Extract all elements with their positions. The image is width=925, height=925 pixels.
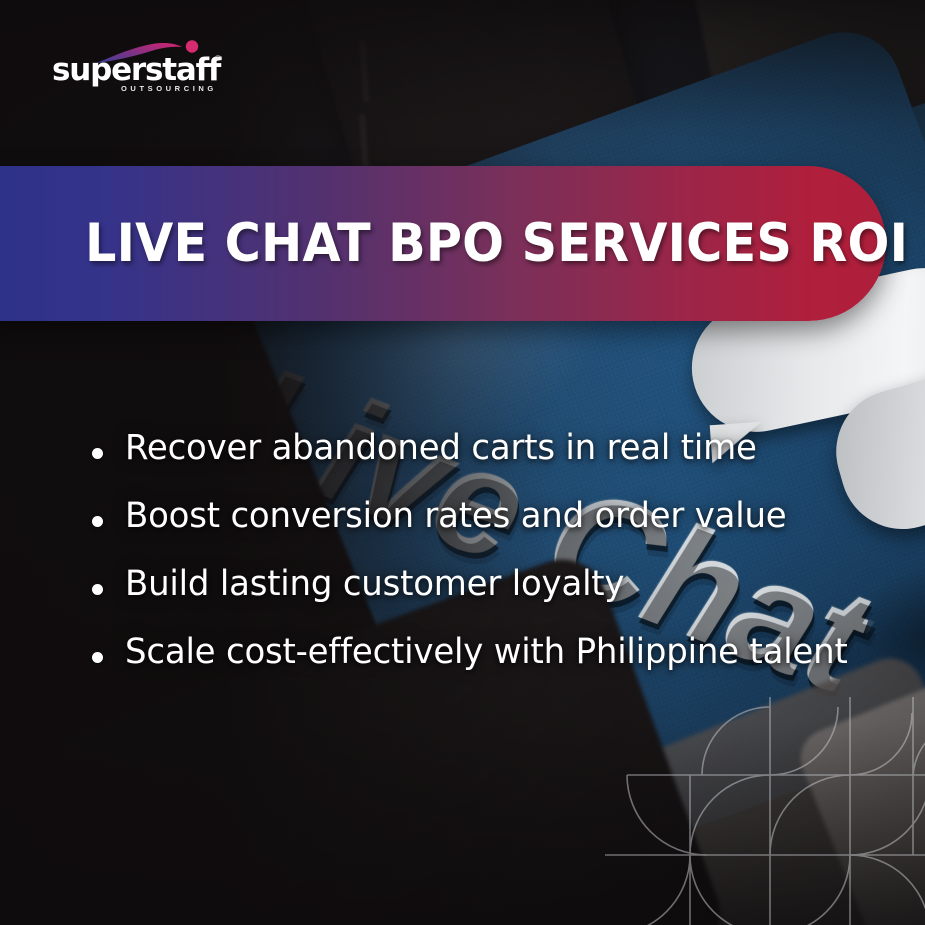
list-item: Scale cost-effectively with Philippine t…	[92, 628, 882, 677]
poster-canvas: Live Chat	[0, 0, 925, 925]
list-item: Boost conversion rates and order value	[92, 492, 882, 541]
list-item-label: Recover abandoned carts in real time	[125, 424, 757, 473]
bullet-dot-icon	[92, 448, 103, 459]
bullet-dot-icon	[92, 584, 103, 595]
superstaff-logo[interactable]: superstaff ® OUTSOURCING	[52, 40, 232, 90]
page-title: LIVE CHAT BPO SERVICES ROI	[85, 166, 908, 321]
bullet-dot-icon	[92, 516, 103, 527]
bullet-dot-icon	[92, 652, 103, 663]
list-item-label: Scale cost-effectively with Philippine t…	[125, 628, 848, 677]
logo-registered-mark: ®	[215, 54, 221, 63]
logo-dot-icon	[186, 40, 198, 52]
title-banner: LIVE CHAT BPO SERVICES ROI	[0, 166, 886, 321]
list-item-label: Build lasting customer loyalty	[125, 560, 624, 609]
list-item-label: Boost conversion rates and order value	[125, 492, 787, 541]
list-item: Build lasting customer loyalty	[92, 560, 882, 609]
list-item: Recover abandoned carts in real time	[92, 424, 882, 473]
logo-wordmark: superstaff	[52, 52, 220, 88]
logo-tagline: OUTSOURCING	[121, 84, 217, 93]
benefits-list: Recover abandoned carts in real time Boo…	[92, 424, 882, 696]
